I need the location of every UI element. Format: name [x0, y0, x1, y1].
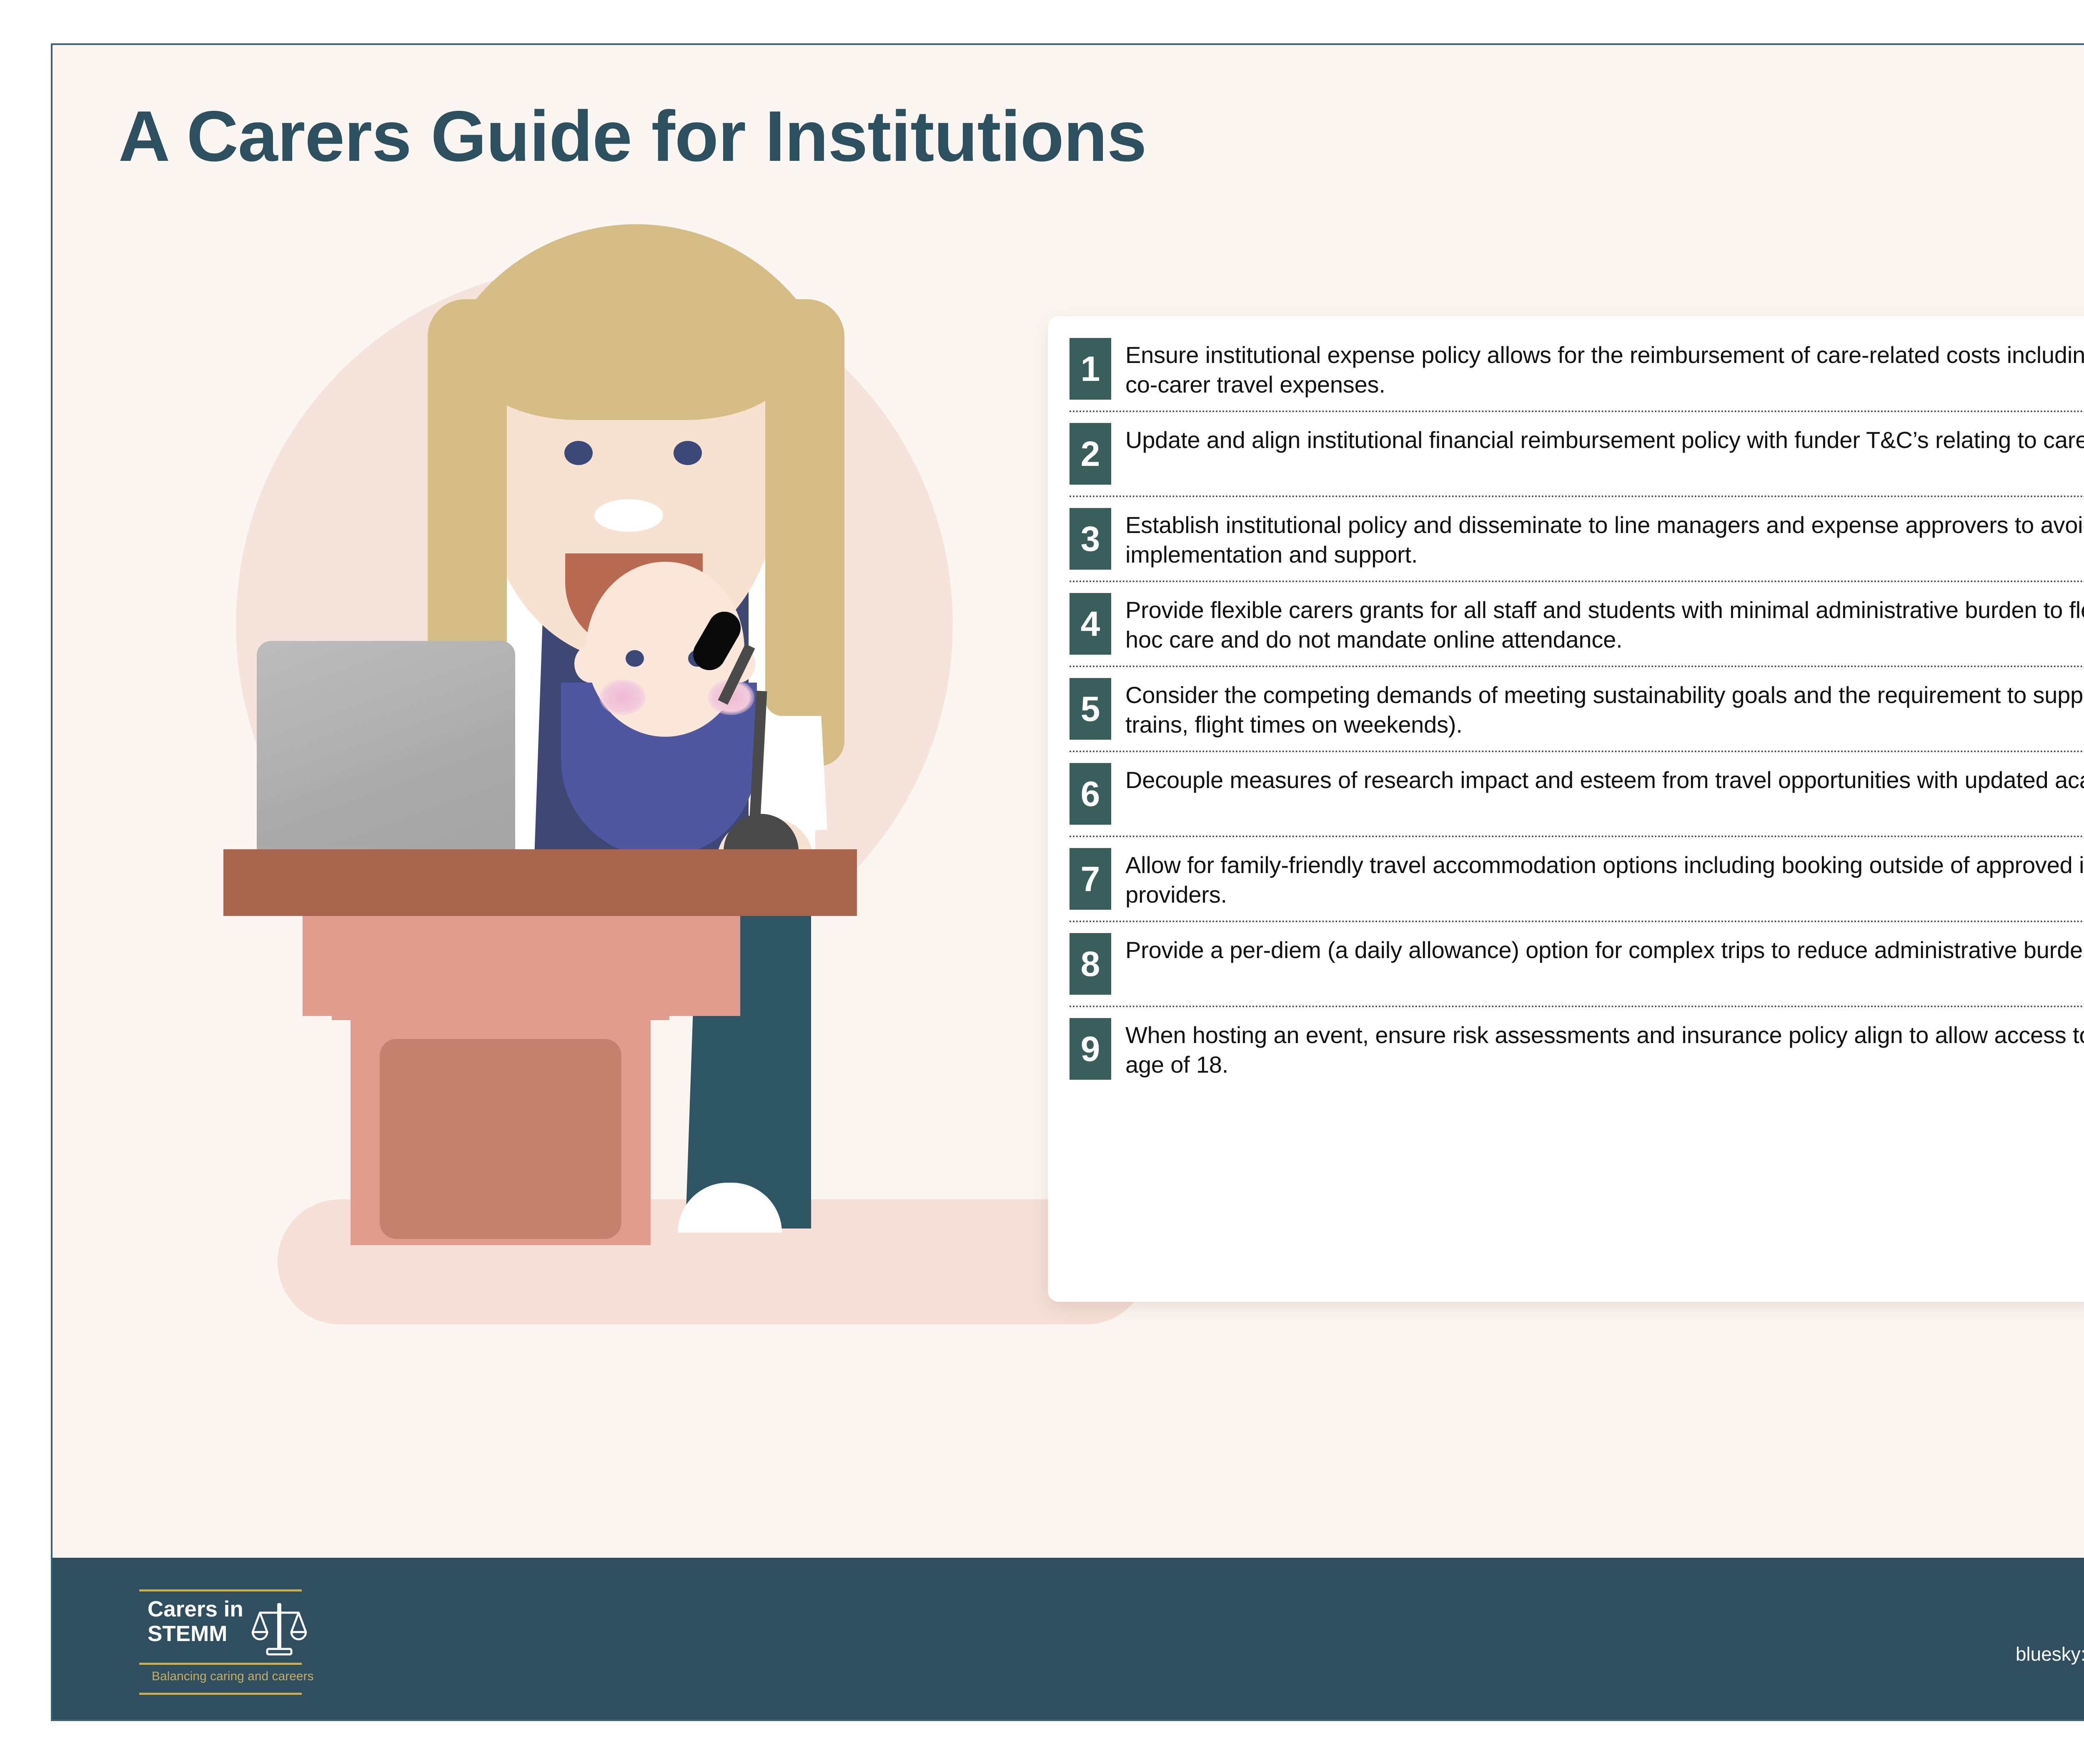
- recommendation-number: 3: [1070, 508, 1111, 570]
- balance-scales-icon: [248, 1599, 310, 1660]
- recommendation-number: 7: [1070, 848, 1111, 910]
- logo-rule-middle: [139, 1663, 302, 1665]
- recommendation-row: 4 Provide flexible carers grants for all…: [1070, 582, 2084, 667]
- podium-body: [303, 916, 740, 1016]
- illustration-woman-at-podium: [119, 224, 1086, 1558]
- recommendation-number: 8: [1070, 933, 1111, 995]
- laptop: [257, 641, 515, 858]
- recommendation-row: 1 Ensure institutional expense policy al…: [1070, 327, 2084, 412]
- mouth: [594, 499, 663, 532]
- recommendation-text: Update and align institutional financial…: [1125, 423, 2084, 455]
- recommendation-row: 7 Allow for family-friendly travel accom…: [1070, 837, 2084, 922]
- contact-bluesky[interactable]: bluesky: @carersinstemm.bsky.social: [2016, 1642, 2084, 1667]
- contact-email[interactable]: hello@carersinstemm.co.uk: [2016, 1617, 2084, 1642]
- recommendation-row: 8 Provide a per-diem (a daily allowance)…: [1070, 922, 2084, 1007]
- recommendations-card: 1 Ensure institutional expense policy al…: [1048, 316, 2084, 1302]
- footer: Carers in STEMM Balancing caring and car…: [53, 1558, 2084, 1719]
- baby-eye-left: [626, 650, 644, 667]
- eye-right: [674, 441, 702, 465]
- recommendation-number: 2: [1070, 423, 1111, 485]
- recommendation-text: Provide flexible carers grants for all s…: [1125, 593, 2084, 654]
- recommendation-text: Ensure institutional expense policy allo…: [1125, 338, 2084, 399]
- podium-inset-panel: [380, 1039, 621, 1239]
- contact-website[interactable]: www.carersinstemm.co.uk: [2016, 1592, 2084, 1617]
- logo-tagline: Balancing caring and careers: [152, 1669, 314, 1684]
- recommendation-number: 6: [1070, 763, 1111, 825]
- recommendation-text: Establish institutional policy and disse…: [1125, 508, 2084, 569]
- recommendation-number: 5: [1070, 678, 1111, 740]
- recommendation-row: 6 Decouple measures of research impact a…: [1070, 752, 2084, 837]
- recommendation-text: Decouple measures of research impact and…: [1125, 763, 2084, 795]
- recommendation-text: Provide a per-diem (a daily allowance) o…: [1125, 933, 2084, 965]
- logo-rule-bottom: [139, 1693, 302, 1695]
- poster: A Carers Guide for Institutions: [51, 43, 2084, 1721]
- baby-cheek-left: [599, 679, 646, 715]
- recommendation-text: When hosting an event, ensure risk asses…: [1125, 1018, 2084, 1079]
- podium-top: [223, 849, 857, 916]
- contact-x[interactable]: X: @STEMM_carers: [2016, 1666, 2084, 1691]
- logo-name: Carers in STEMM: [148, 1597, 243, 1646]
- page-title: A Carers Guide for Institutions: [118, 95, 1146, 178]
- recommendation-number: 1: [1070, 338, 1111, 400]
- recommendation-text: Allow for family-friendly travel accommo…: [1125, 848, 2084, 909]
- recommendation-row: 9 When hosting an event, ensure risk ass…: [1070, 1007, 2084, 1091]
- logo-carers-in-stemm: Carers in STEMM Balancing caring and car…: [139, 1579, 331, 1698]
- recommendation-text: Consider the competing demands of meetin…: [1125, 678, 2084, 739]
- logo-name-line1: Carers in: [148, 1597, 243, 1621]
- recommendation-number: 9: [1070, 1018, 1111, 1080]
- logo-name-line2: STEMM: [148, 1621, 243, 1646]
- contact-block: www.carersinstemm.co.uk hello@carersinst…: [2016, 1592, 2084, 1691]
- eye-left: [564, 441, 593, 465]
- recommendation-row: 3 Establish institutional policy and dis…: [1070, 497, 2084, 582]
- logo-rule-top: [139, 1589, 302, 1591]
- recommendation-number: 4: [1070, 593, 1111, 655]
- recommendation-row: 5 Consider the competing demands of meet…: [1070, 667, 2084, 752]
- recommendation-row: 2 Update and align institutional financi…: [1070, 412, 2084, 497]
